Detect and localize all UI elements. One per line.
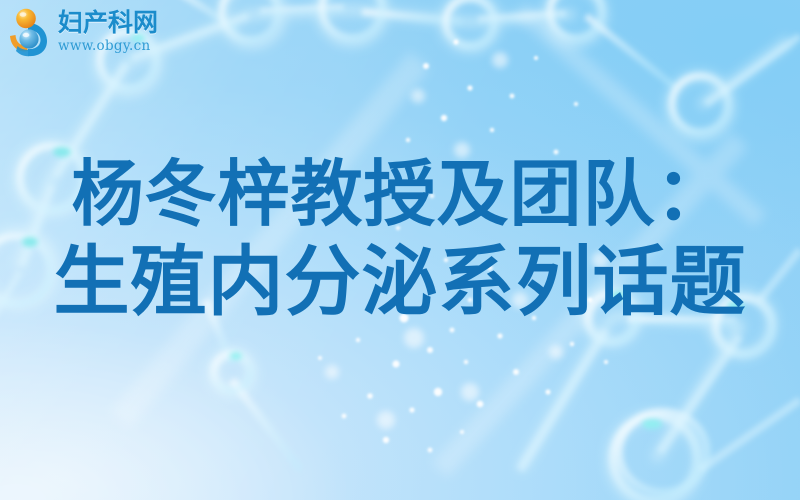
obgy-logo-mark-icon: [6, 6, 54, 58]
headline: 杨冬梓教授及团队： 生殖内分泌系列话题: [0, 150, 800, 326]
logo-site-name: 妇产科网: [58, 10, 158, 36]
background-blue-glow: [0, 0, 800, 500]
background-light-wash: [0, 0, 800, 500]
promo-banner: 妇产科网 www.obgy.cn 杨冬梓教授及团队： 生殖内分泌系列话题: [0, 0, 800, 500]
molecule-artwork: [0, 0, 800, 500]
logo-site-url: www.obgy.cn: [58, 38, 158, 54]
headline-line-2: 生殖内分泌系列话题: [0, 238, 800, 326]
headline-line-1: 杨冬梓教授及团队：: [0, 150, 800, 238]
background-white-glow: [0, 0, 800, 500]
sparkle-particles: [0, 0, 800, 500]
site-logo[interactable]: 妇产科网 www.obgy.cn: [6, 6, 158, 58]
